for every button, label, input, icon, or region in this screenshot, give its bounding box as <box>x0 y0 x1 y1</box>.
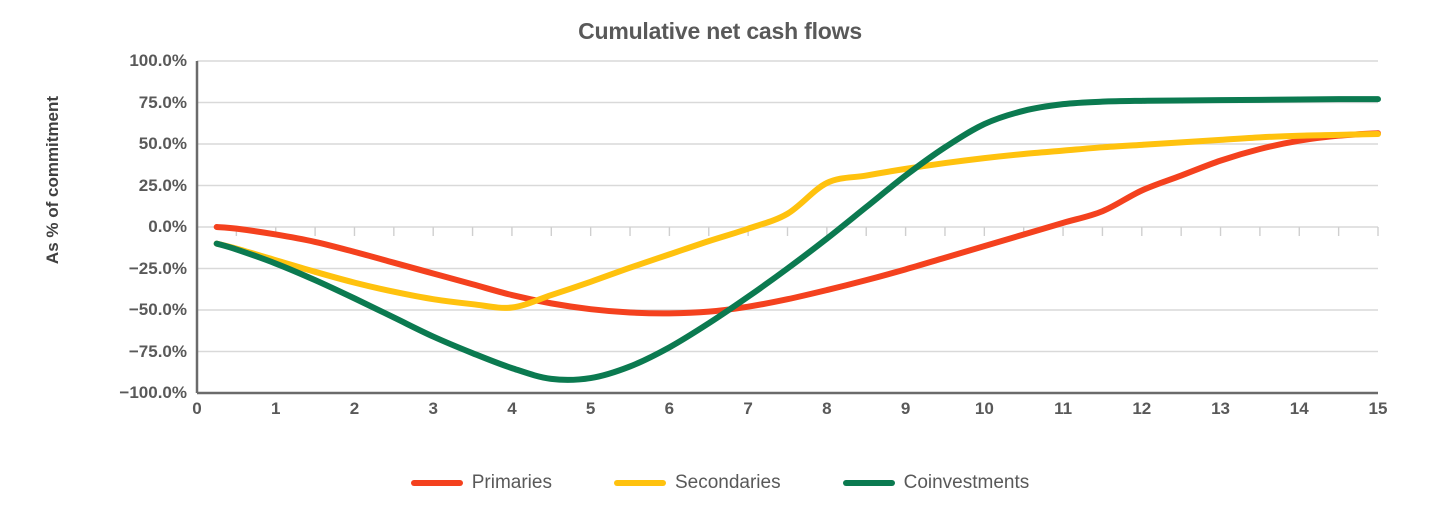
series-line-secondaries <box>217 134 1378 308</box>
x-tick-label: 0 <box>167 399 227 419</box>
x-tick-label: 3 <box>403 399 463 419</box>
x-tick-label: 1 <box>246 399 306 419</box>
legend-label: Secondaries <box>675 472 781 494</box>
chart-container: Cumulative net cash flows As % of commit… <box>0 0 1440 520</box>
x-tick-label: 13 <box>1191 399 1251 419</box>
legend-swatch-icon <box>411 480 463 486</box>
data-series-group <box>217 99 1378 380</box>
legend-swatch-icon <box>614 480 666 486</box>
x-tick-label: 5 <box>561 399 621 419</box>
x-tick-label: 4 <box>482 399 542 419</box>
x-tick-label: 8 <box>797 399 857 419</box>
legend-label: Coinvestments <box>904 472 1030 494</box>
x-tick-label: 2 <box>324 399 384 419</box>
x-tick-label: 12 <box>1112 399 1172 419</box>
x-tick-label: 9 <box>876 399 936 419</box>
x-axis-minor-ticks <box>197 227 1378 236</box>
x-tick-label: 15 <box>1348 399 1408 419</box>
legend-swatch-icon <box>843 480 895 486</box>
x-tick-label: 11 <box>1033 399 1093 419</box>
chart-legend: PrimariesSecondariesCoinvestments <box>0 472 1440 494</box>
series-line-primaries <box>217 133 1378 313</box>
x-tick-label: 7 <box>718 399 778 419</box>
legend-item-secondaries[interactable]: Secondaries <box>614 472 781 494</box>
x-tick-label: 10 <box>954 399 1014 419</box>
x-tick-label: 6 <box>639 399 699 419</box>
legend-item-primaries[interactable]: Primaries <box>411 472 552 494</box>
legend-item-coinvestments[interactable]: Coinvestments <box>843 472 1030 494</box>
x-tick-label: 14 <box>1269 399 1329 419</box>
legend-label: Primaries <box>472 472 552 494</box>
plot-area <box>0 0 1440 520</box>
